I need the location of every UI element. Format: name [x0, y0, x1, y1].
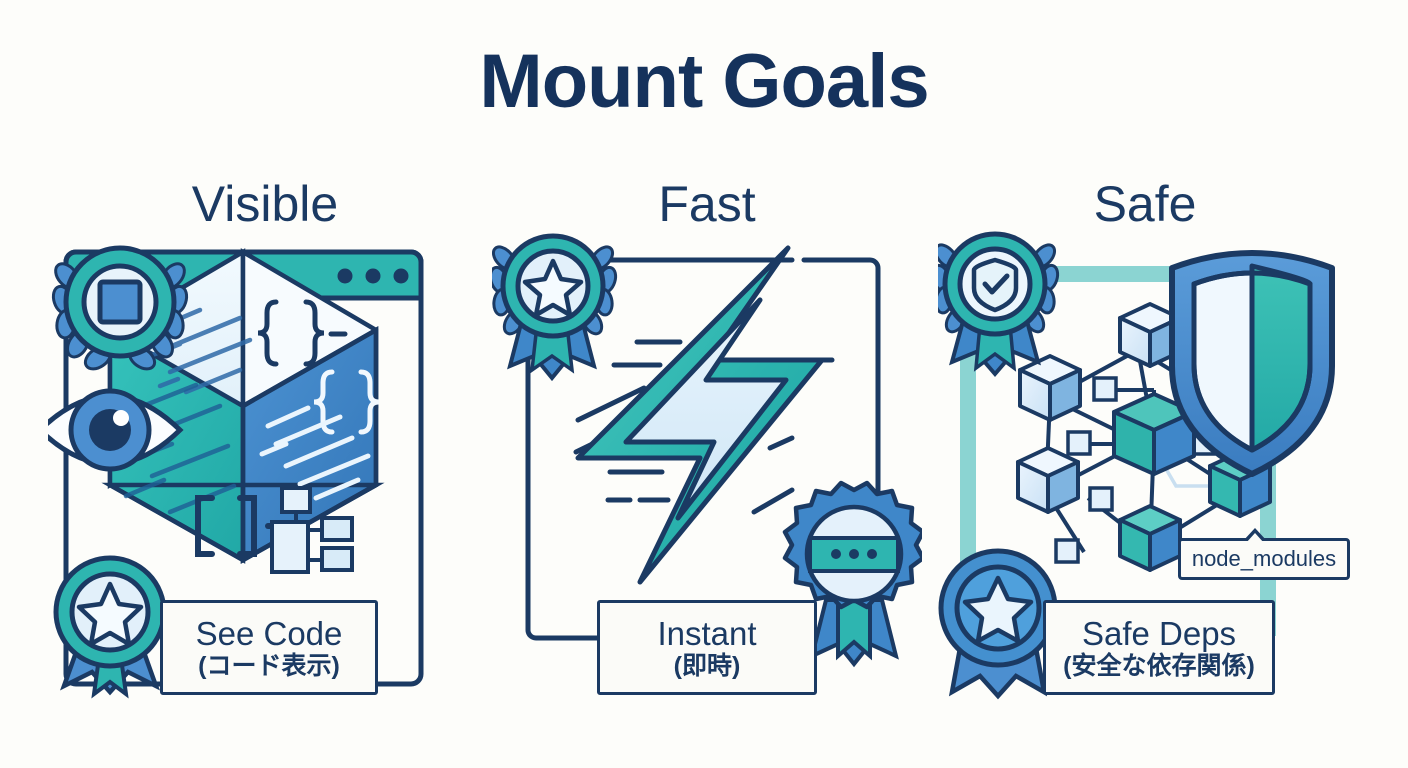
infographic-canvas: Mount Goals Visible Fast Safe — [0, 0, 1408, 768]
page-title: Mount Goals — [0, 38, 1408, 125]
medal-square-icon — [50, 248, 190, 373]
node-modules-badge: node_modules — [1178, 538, 1350, 580]
caption-fast: Instant (即時) — [597, 600, 817, 695]
caption-visible-jp: (コード表示) — [198, 654, 340, 679]
panel-heading-safe: Safe — [965, 175, 1325, 233]
panel-heading-visible: Visible — [85, 175, 445, 233]
medal-star-icon — [941, 551, 1055, 696]
caption-visible: See Code (コード表示) — [160, 600, 378, 695]
caption-visible-en: See Code — [196, 617, 343, 650]
medal-star-icon — [492, 236, 619, 378]
caption-fast-en: Instant — [657, 617, 756, 650]
node-modules-label: node_modules — [1192, 546, 1336, 572]
medal-star-icon — [56, 558, 164, 694]
panel-heading-fast: Fast — [527, 175, 887, 233]
caption-safe-jp: (安全な依存関係) — [1063, 654, 1255, 679]
caption-safe: Safe Deps (安全な依存関係) — [1043, 600, 1275, 695]
medal-shield-check-icon — [938, 234, 1061, 374]
caption-fast-jp: (即時) — [674, 654, 741, 679]
caption-safe-en: Safe Deps — [1082, 617, 1236, 650]
